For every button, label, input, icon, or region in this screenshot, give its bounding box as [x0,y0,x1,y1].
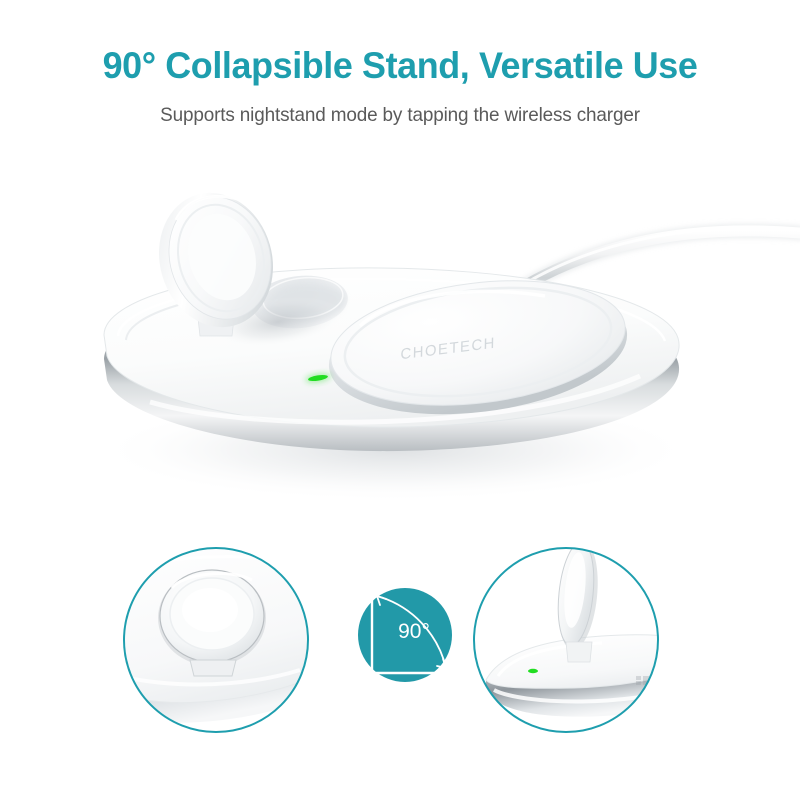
feature-callouts: 90° [0,530,800,755]
header: 90° Collapsible Stand, Versatile Use Sup… [0,0,800,127]
angle-badge-label: 90° [398,620,430,643]
hero-product-image: CHOETECH [0,150,800,530]
page-subtitle: Supports nightstand mode by tapping the … [12,87,788,127]
page-title: 90° Collapsible Stand, Versatile Use [12,0,788,87]
callout-row: 90° [0,530,800,755]
wireless-charger-illustration: CHOETECH [0,150,800,530]
callout-angle-badge: 90° [358,588,452,682]
callout-led-indicator [528,669,538,673]
callout-watch-pad-folded [56,541,376,732]
callout-stand-upright [474,540,718,732]
